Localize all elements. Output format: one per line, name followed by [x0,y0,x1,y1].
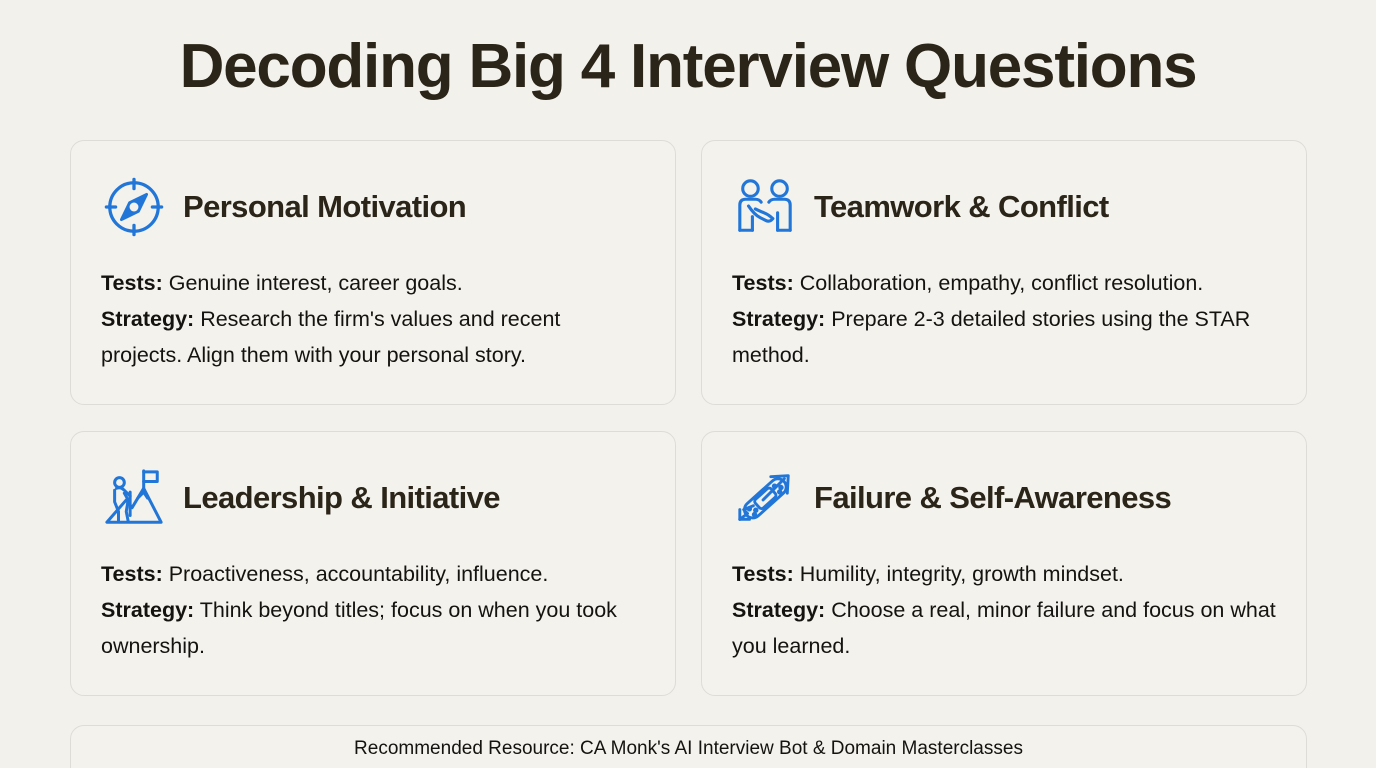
cards-grid: Personal Motivation Tests: Genuine inter… [70,140,1307,696]
tests-text: Collaboration, empathy, conflict resolut… [800,271,1204,295]
tests-label: Tests: [732,271,794,295]
infographic-page: Decoding Big 4 Interview Questions Pers [0,0,1376,768]
tests-text: Humility, integrity, growth mindset. [800,562,1124,586]
strategy-label: Strategy: [101,598,194,622]
strategy-label: Strategy: [732,307,825,331]
mountain-flag-climber-icon [101,465,167,531]
card-title: Teamwork & Conflict [814,190,1109,224]
card-body: Tests: Humility, integrity, growth minds… [732,556,1276,664]
strategy-label: Strategy: [101,307,194,331]
strategy-line: Strategy: Think beyond titles; focus on … [101,592,645,664]
card-body: Tests: Proactiveness, accountability, in… [101,556,645,664]
tests-text: Proactiveness, accountability, influence… [169,562,549,586]
strategy-line: Strategy: Research the firm's values and… [101,301,645,373]
tests-line: Tests: Proactiveness, accountability, in… [101,556,645,592]
page-title: Decoding Big 4 Interview Questions [0,34,1376,99]
card-personal-motivation: Personal Motivation Tests: Genuine inter… [70,140,676,405]
tests-line: Tests: Collaboration, empathy, conflict … [732,265,1276,301]
tests-line: Tests: Genuine interest, career goals. [101,265,645,301]
bandage-growth-arrow-icon [732,465,798,531]
tests-label: Tests: [732,562,794,586]
handshake-icon [732,174,798,240]
card-body: Tests: Genuine interest, career goals. S… [101,265,645,373]
tests-label: Tests: [101,271,163,295]
compass-icon [101,174,167,240]
card-header: Failure & Self-Awareness [732,462,1276,534]
card-teamwork-conflict: Teamwork & Conflict Tests: Collaboration… [701,140,1307,405]
tests-label: Tests: [101,562,163,586]
card-header: Leadership & Initiative [101,462,645,534]
card-title: Failure & Self-Awareness [814,481,1171,515]
card-title: Leadership & Initiative [183,481,500,515]
footer-text: Recommended Resource: CA Monk's AI Inter… [354,738,1023,760]
strategy-line: Strategy: Prepare 2-3 detailed stories u… [732,301,1276,373]
strategy-line: Strategy: Choose a real, minor failure a… [732,592,1276,664]
footer-card: Recommended Resource: CA Monk's AI Inter… [70,725,1307,768]
tests-text: Genuine interest, career goals. [169,271,463,295]
card-body: Tests: Collaboration, empathy, conflict … [732,265,1276,373]
card-failure-self-awareness: Failure & Self-Awareness Tests: Humility… [701,431,1307,696]
card-leadership-initiative: Leadership & Initiative Tests: Proactive… [70,431,676,696]
card-title: Personal Motivation [183,190,466,224]
card-header: Personal Motivation [101,171,645,243]
tests-line: Tests: Humility, integrity, growth minds… [732,556,1276,592]
strategy-label: Strategy: [732,598,825,622]
card-header: Teamwork & Conflict [732,171,1276,243]
